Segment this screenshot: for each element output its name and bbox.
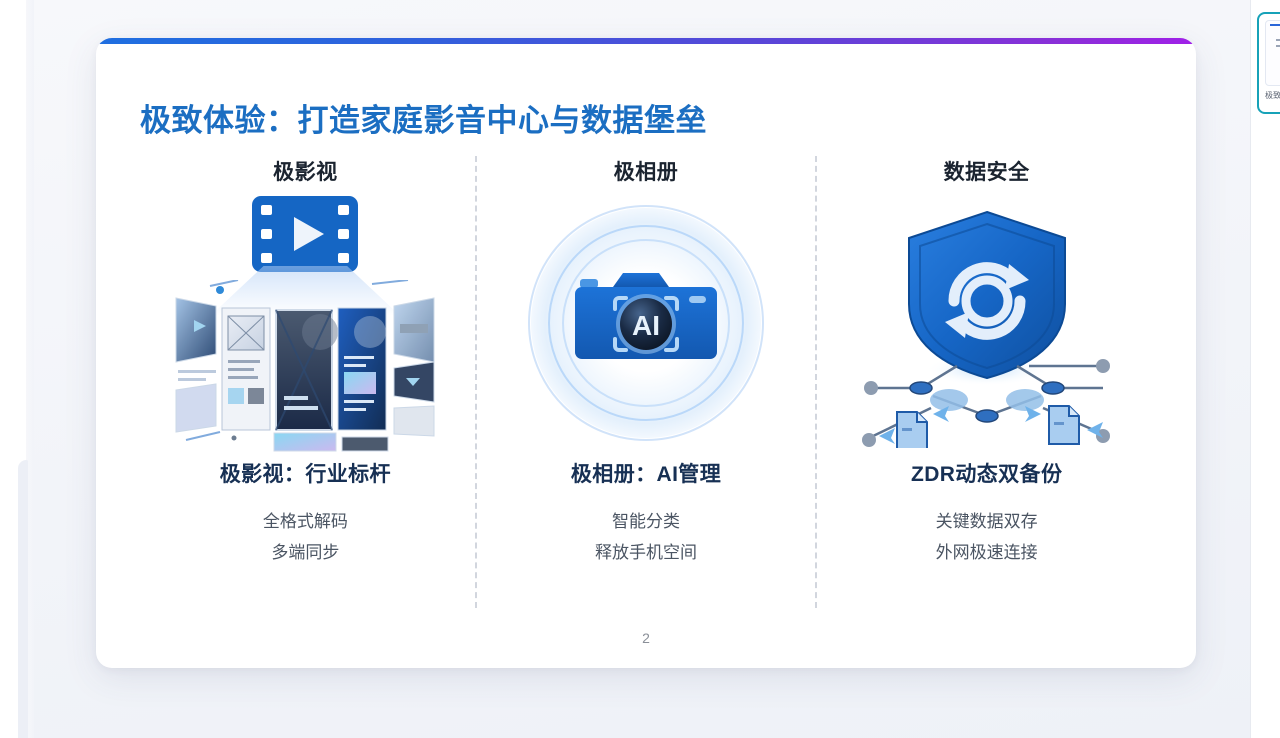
page-number: 2 [96,630,1196,646]
feature-desc-security-line1: 关键数据双存 [936,506,1038,537]
feature-columns: 极影视 [136,156,1156,626]
feature-desc-security: 关键数据双存 外网极速连接 [936,506,1038,568]
feature-desc-video-line2: 多端同步 [263,537,348,568]
security-icon-stage [847,194,1127,452]
feature-head-album: 极相册 [614,156,679,186]
feature-name-album: 极相册：AI管理 [571,458,721,488]
slide-accent-bar [96,38,1196,44]
feature-desc-security-line2: 外网极速连接 [936,537,1038,568]
ai-camera-icon: AI [571,263,721,383]
feature-head-security: 数据安全 [944,156,1030,186]
thumbnail-accent-bar [1270,24,1280,26]
thumbnail-line-1 [1276,39,1280,41]
feature-column-album[interactable]: 极相册 [477,156,816,626]
feature-desc-video: 全格式解码 多端同步 [263,506,348,568]
feature-desc-album-line1: 智能分类 [595,506,697,537]
thumbnail-preview [1265,20,1280,86]
shield-sync-icon [853,200,1121,448]
album-icon-stage: AI [506,194,786,452]
slide-card[interactable]: 极致体验：打造家庭影音中心与数据堡垒 极影视 [96,38,1196,668]
left-panel-edge [18,460,28,738]
feature-desc-album: 智能分类 释放手机空间 [595,506,697,568]
camera-lens-label: AI [632,310,660,341]
thumbnail-label: 极致体验 [1265,90,1280,101]
thumbnail-slide-2[interactable]: 极致体验 [1257,12,1280,114]
feature-desc-album-line2: 释放手机空间 [595,537,697,568]
feature-name-video: 极影视：行业标杆 [220,458,391,488]
page-title: 极致体验：打造家庭影音中心与数据堡垒 [140,95,707,140]
feature-column-video[interactable]: 极影视 [136,156,475,626]
media-collage-illustration [172,280,438,452]
film-play-icon [252,196,358,272]
thumbnail-line-2 [1276,45,1280,47]
feature-column-security[interactable]: 数据安全 [817,156,1156,626]
feature-head-video: 极影视 [273,156,338,186]
thumbnail-rail[interactable]: 极致体验 [1250,0,1280,738]
feature-desc-video-line1: 全格式解码 [263,506,348,537]
video-icon-stage [165,194,445,452]
feature-name-security: ZDR动态双备份 [911,458,1062,488]
